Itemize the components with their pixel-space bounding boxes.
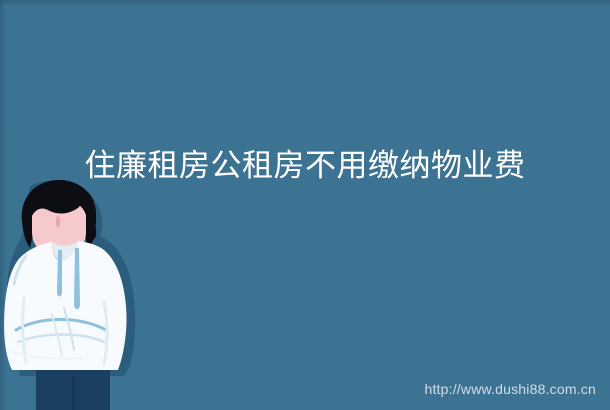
watermark-url: http://www.dushi88.com.cn [424,380,596,398]
pants [36,366,110,410]
drawstring-right [74,248,80,309]
poster-image: 住廉租房公租房不用缴纳物业费 http://www.dushi88.com.cn [0,0,610,410]
hoodie [4,241,127,370]
headline-text: 住廉租房公租房不用缴纳物业费 [0,146,610,186]
person-illustration [0,180,170,410]
